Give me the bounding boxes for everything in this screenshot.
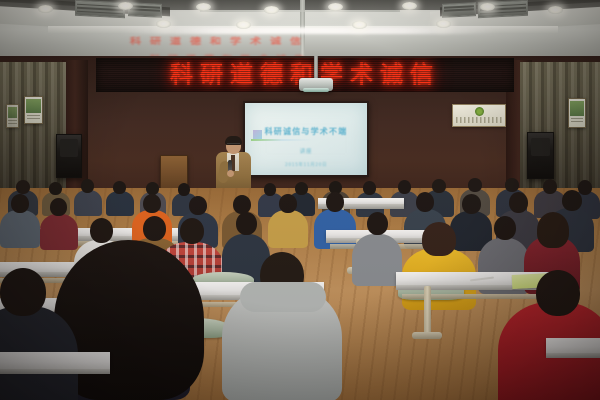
poster-right — [568, 98, 586, 128]
led-banner-reflection: 科研道德和学术诚信 — [130, 35, 510, 48]
wall-plaque — [452, 104, 506, 127]
projector-lens-icon — [303, 88, 329, 92]
ac-vent — [128, 2, 162, 18]
ac-vent — [75, 0, 125, 18]
presenter — [213, 137, 253, 195]
ceiling: 科研道德和学术诚信 科研道德和学术诚信 — [0, 0, 600, 62]
slide-title: 科研诚信与学术不端 — [245, 126, 367, 137]
emblem-icon — [475, 107, 484, 116]
slide-presenter: 讲座 — [245, 147, 367, 155]
desk-front-left — [0, 352, 110, 370]
wall-speaker-right — [527, 132, 554, 179]
poster-far-left — [6, 104, 19, 128]
desk-front-right — [546, 338, 600, 354]
slide-date: 2015年11月20日 — [245, 162, 367, 168]
lecture-hall-photo: 科研道德和学术诚信 科研道德和学术诚信 科研道德和学术诚信 科研诚信与 — [0, 0, 600, 400]
wall-speaker-left — [56, 134, 82, 178]
projection-screen-frame: 科研诚信与学术不端 讲座 2015年11月20日 — [243, 101, 369, 177]
projection-screen: 科研诚信与学术不端 讲座 2015年11月20日 — [245, 103, 367, 175]
glasses-icon — [227, 143, 240, 147]
ac-vent — [442, 2, 476, 18]
poster-left — [24, 96, 43, 124]
